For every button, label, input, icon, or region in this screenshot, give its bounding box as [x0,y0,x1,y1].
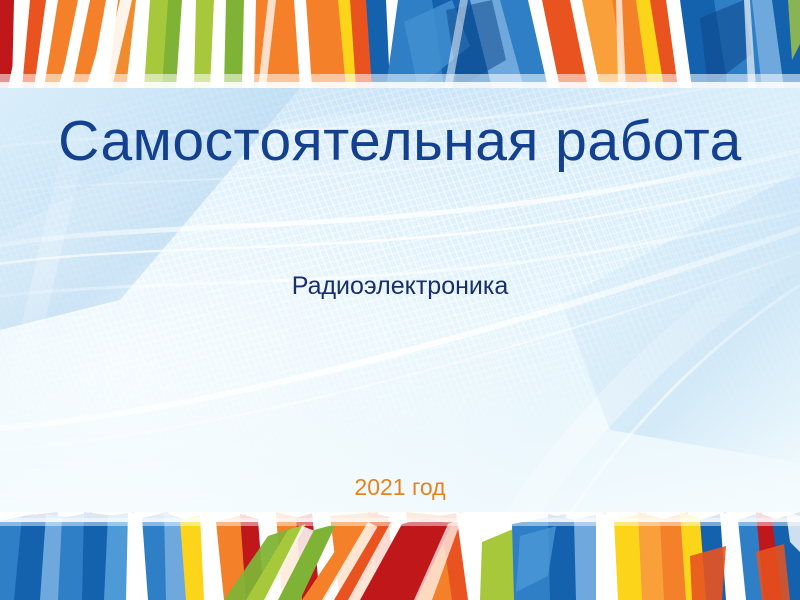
bottom-decorative-band-art [0,512,800,600]
background-ribbon-curves [0,0,800,600]
top-decorative-band [0,0,800,88]
slide-year: 2021 год [0,476,800,499]
top-decorative-band-art [0,0,800,88]
slide-title: Самостоятельная работа [0,113,800,170]
presentation-slide: Самостоятельная работа Радиоэлектроника … [0,0,800,600]
bottom-decorative-band [0,512,800,600]
slide-subtitle: Радиоэлектроника [0,274,800,299]
